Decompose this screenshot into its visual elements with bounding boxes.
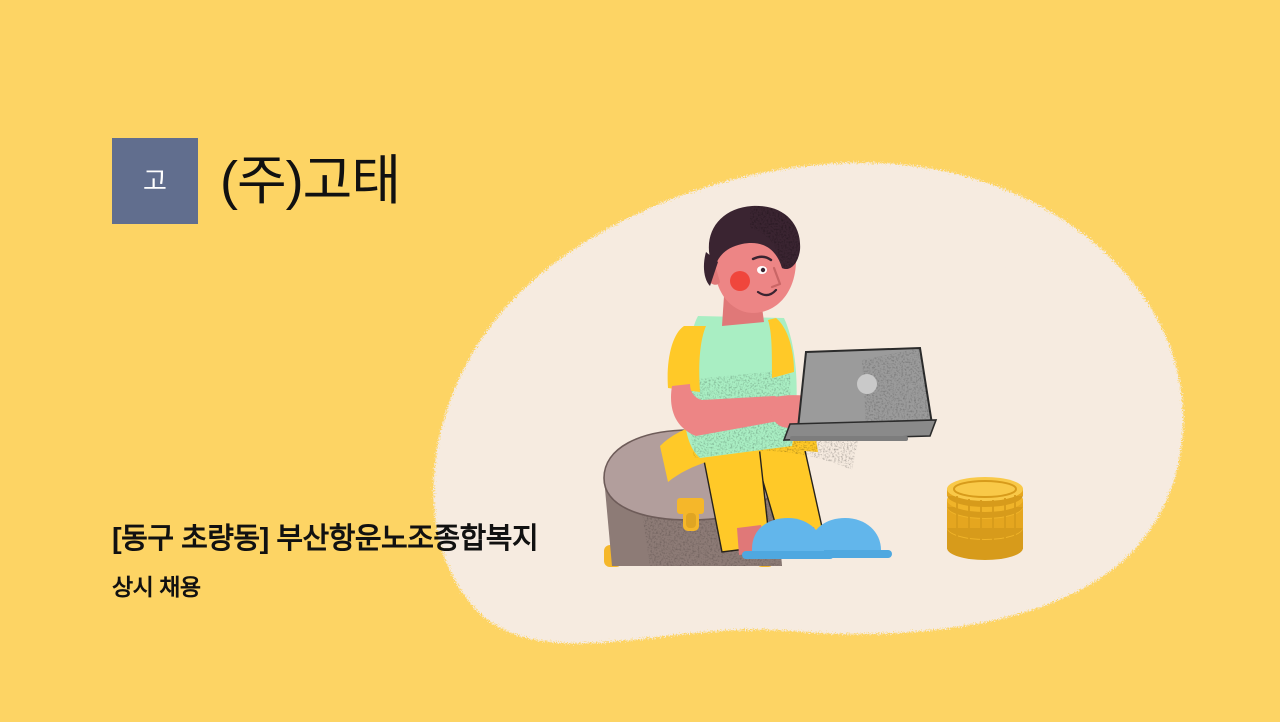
job-recruitment-type: 상시 채용 (112, 574, 538, 602)
legs-graphic (660, 412, 860, 552)
coin-stack-graphic (947, 477, 1023, 560)
briefcase-graphic (604, 430, 782, 567)
job-info: [동구 초량동] 부산항운노조종합복지 상시 채용 (112, 521, 538, 602)
job-title: [동구 초량동] 부산항운노조종합복지 (112, 521, 538, 557)
torso-graphic (668, 292, 797, 458)
arms-graphic (671, 384, 863, 436)
company-initial-badge: 고 (112, 138, 198, 224)
head-graphic (704, 206, 800, 313)
company-name: (주)고태 (220, 154, 400, 208)
laptop-graphic (784, 348, 936, 441)
company-header: 고 (주)고태 (112, 138, 400, 224)
background-blob (0, 0, 1280, 722)
illustration-person-working-on-laptop (0, 0, 1280, 722)
company-initial-text: 고 (143, 168, 167, 194)
shoes-graphic (737, 518, 892, 559)
job-posting-card: 고 (주)고태 [동구 초량동] 부산항운노조종합복지 상시 채용 (0, 0, 1280, 722)
